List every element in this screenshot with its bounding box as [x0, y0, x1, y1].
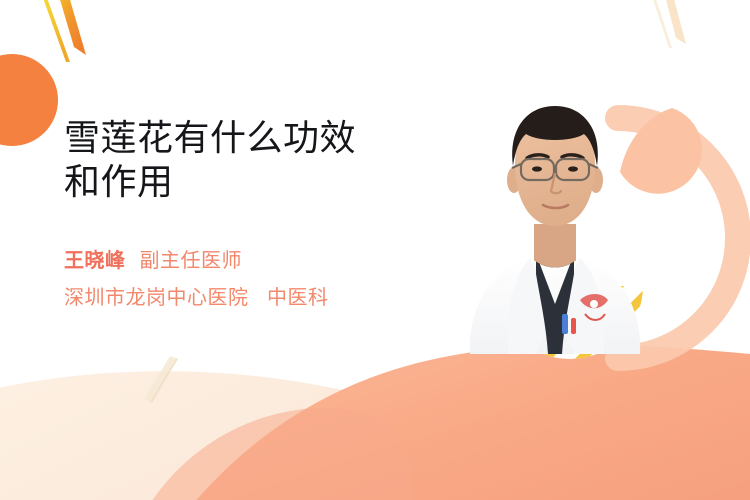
doctor-identity-row: 王晓峰 副主任医师 [64, 246, 464, 276]
cover-content: 雪莲花有什么功效 和作用 王晓峰 副主任医师 深圳市龙岗中心医院 中医科 [0, 0, 750, 500]
article-cover-card: 雪莲花有什么功效 和作用 王晓峰 副主任医师 深圳市龙岗中心医院 中医科 [0, 0, 750, 500]
title-line-2: 和作用 [64, 160, 424, 204]
department-name: 中医科 [267, 287, 329, 309]
page-title: 雪莲花有什么功效 和作用 [64, 116, 424, 204]
doctor-affiliation-row: 深圳市龙岗中心医院 中医科 [64, 282, 464, 316]
doctor-name: 王晓峰 [64, 246, 126, 276]
doctor-byline: 王晓峰 副主任医师 深圳市龙岗中心医院 中医科 [64, 246, 464, 316]
title-line-1: 雪莲花有什么功效 [64, 116, 424, 160]
doctor-job-title: 副主任医师 [140, 246, 243, 276]
hospital-name: 深圳市龙岗中心医院 [64, 287, 249, 309]
